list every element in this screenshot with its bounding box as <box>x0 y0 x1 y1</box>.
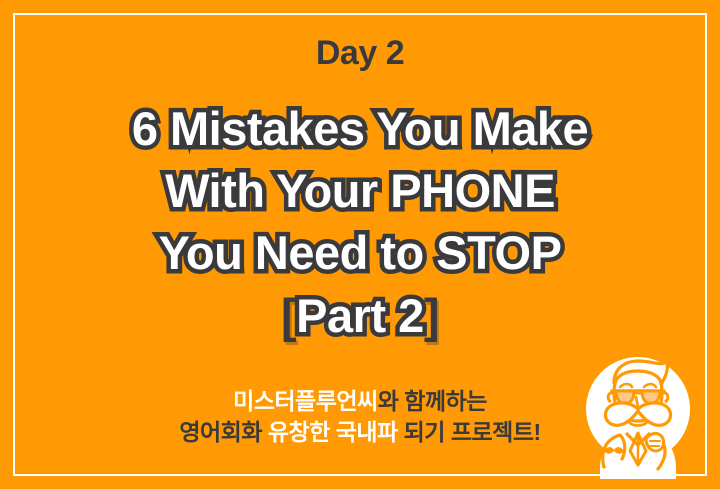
day-label: Day 2 <box>0 36 720 70</box>
subtitle-line-2-dark-start: 영어회화 <box>179 419 262 445</box>
headline-line-3: You Need to STOP <box>0 222 720 284</box>
headline-block: 6 Mistakes You Make With Your PHONE You … <box>0 98 720 348</box>
subtitle-line-1-dark: 와 함께하는 <box>378 388 487 414</box>
thumbnail-content: Day 2 6 Mistakes You Make With Your PHON… <box>0 0 720 489</box>
subtitle-line-1-white: 미스터플루언씨 <box>233 388 378 414</box>
headline-line-2: With Your PHONE <box>0 160 720 222</box>
bracket-close: ] <box>424 289 439 342</box>
headline-part-line: [Part 2] <box>0 284 720 348</box>
thumbnail-canvas: Day 2 6 Mistakes You Make With Your PHON… <box>0 0 720 489</box>
bracket-open: [ <box>281 289 296 342</box>
headline-line-1: 6 Mistakes You Make <box>0 98 720 160</box>
subtitle-line-2-white: 유창한 국내파 <box>268 419 398 445</box>
part-label: Part 2 <box>296 289 424 342</box>
subtitle-line-2-dark-end: 되기 프로젝트! <box>404 419 541 445</box>
mustache-man-logo-icon <box>574 347 702 479</box>
